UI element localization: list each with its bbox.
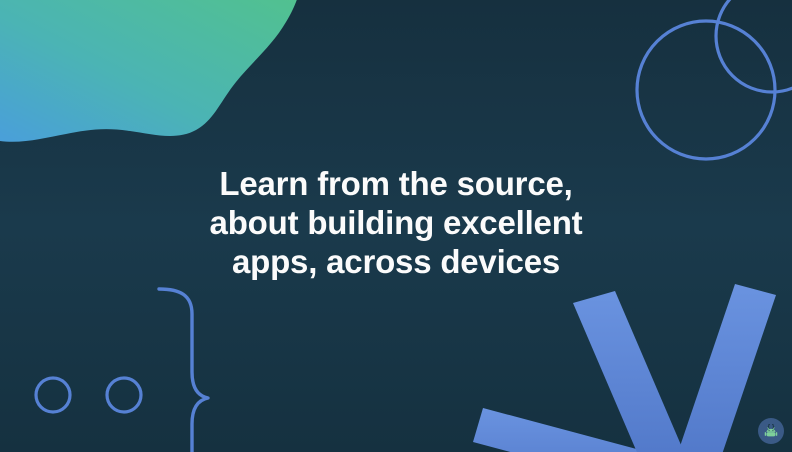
slide-canvas: Learn from the source, about building ex… [0, 0, 792, 452]
decorative-graphics-layer [0, 0, 792, 452]
android-robot-icon: { } [761, 421, 781, 441]
android-developers-badge: { } [758, 418, 784, 444]
